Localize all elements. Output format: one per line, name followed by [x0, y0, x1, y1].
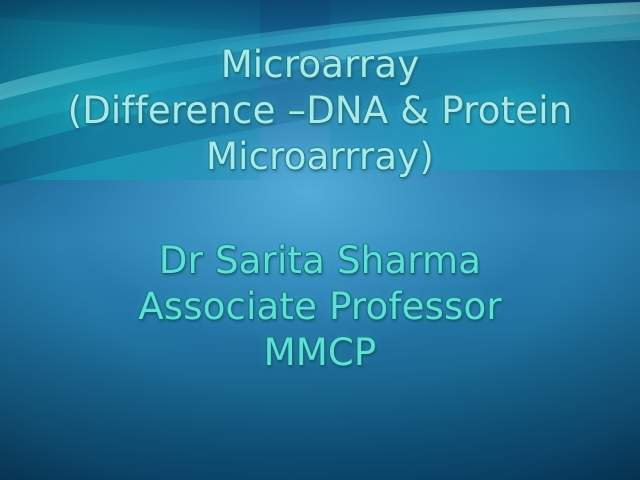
- presenter-affiliation: MMCP: [20, 330, 620, 376]
- slide-title-line-2: (Difference –DNA & Protein: [20, 88, 620, 134]
- slide-title-line-3: Microarrray): [20, 134, 620, 180]
- slide-content: Microarray (Difference –DNA & Protein Mi…: [0, 0, 640, 480]
- presenter-name: Dr Sarita Sharma: [20, 238, 620, 284]
- presenter-designation: Associate Professor: [20, 284, 620, 330]
- slide-title-line-1: Microarray: [20, 42, 620, 88]
- title-slide: Microarray (Difference –DNA & Protein Mi…: [0, 0, 640, 480]
